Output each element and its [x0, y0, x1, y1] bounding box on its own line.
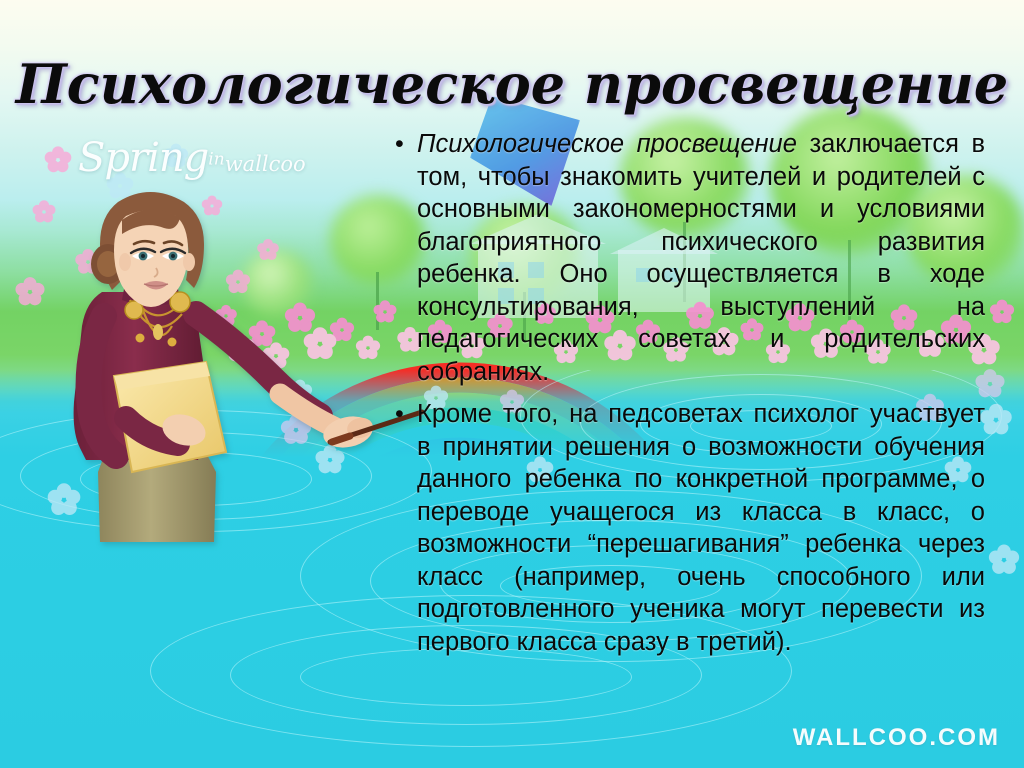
bullet-paragraph-2: Кроме того, на педсоветах психолог участ… [417, 398, 985, 658]
presentation-slide: Springinwallcoo WALLCOO.COM Психологичес… [0, 0, 1024, 768]
bullet-paragraph-1: Психологическое просвещение заключается … [417, 128, 985, 388]
bullet-glyph: • [395, 128, 417, 160]
watermark-spring-text: Spring [78, 135, 208, 181]
bullet-2-body: Кроме того, на педсоветах психолог участ… [417, 400, 985, 656]
watermark-in-text: in [208, 150, 224, 170]
bullet-item: • Кроме того, на педсоветах психолог уча… [395, 398, 985, 658]
bullet-glyph: • [395, 398, 417, 430]
teacher-illustration [30, 180, 450, 680]
slide-title: Психологическое просвещение [0, 52, 1024, 116]
bullet-item: • Психологическое просвещение заключаетс… [395, 128, 985, 388]
head [91, 192, 204, 307]
wallcoo-bottom-watermark: WALLCOO.COM [793, 724, 1000, 752]
bullet-1-body: заключается в том, чтобы знакомить учите… [417, 130, 985, 386]
wallcoo-spring-watermark: Springinwallcoo [78, 135, 318, 197]
watermark-wallcoo-text: wallcoo [225, 152, 306, 176]
bullet-1-lead-emphasis: Психологическое просвещение [417, 130, 797, 158]
slide-body: • Психологическое просвещение заключаетс… [395, 128, 985, 668]
